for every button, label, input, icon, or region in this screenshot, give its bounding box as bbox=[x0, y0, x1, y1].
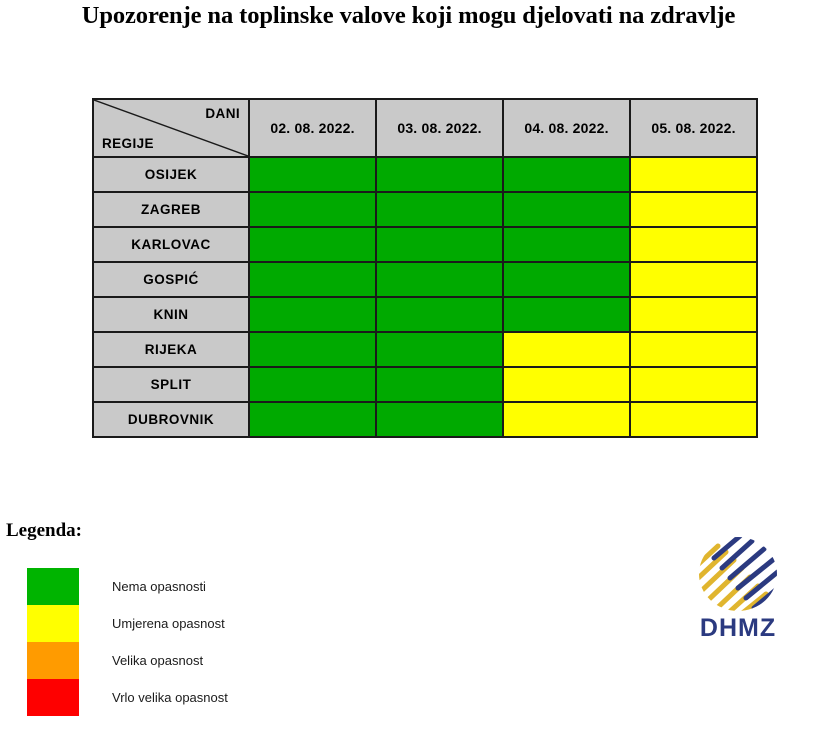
region-label: RIJEKA bbox=[93, 332, 249, 367]
table-header-row: DANI REGIJE 02. 08. 2022. 03. 08. 2022. … bbox=[93, 99, 757, 157]
warning-cell bbox=[503, 227, 630, 262]
warning-cell bbox=[503, 262, 630, 297]
date-header-2: 04. 08. 2022. bbox=[503, 99, 630, 157]
page-title: Upozorenje na toplinske valove koji mogu… bbox=[0, 2, 817, 30]
warning-cell bbox=[376, 262, 503, 297]
region-label: OSIJEK bbox=[93, 157, 249, 192]
warning-cell bbox=[376, 192, 503, 227]
warning-cell bbox=[249, 297, 376, 332]
heat-warning-table: DANI REGIJE 02. 08. 2022. 03. 08. 2022. … bbox=[92, 98, 758, 438]
legend-swatch bbox=[27, 642, 79, 679]
warning-cell bbox=[503, 402, 630, 437]
legend: Nema opasnosti Umjerena opasnost Velika … bbox=[27, 568, 228, 716]
warning-cell bbox=[376, 297, 503, 332]
warning-cell bbox=[249, 402, 376, 437]
table-row: DUBROVNIK bbox=[93, 402, 757, 437]
legend-title: Legenda: bbox=[6, 520, 82, 542]
table-row: KNIN bbox=[93, 297, 757, 332]
legend-item: Vrlo velika opasnost bbox=[27, 679, 228, 716]
warning-cell bbox=[249, 192, 376, 227]
region-label: DUBROVNIK bbox=[93, 402, 249, 437]
warning-cell bbox=[249, 367, 376, 402]
warning-cell bbox=[630, 297, 757, 332]
warning-cell bbox=[503, 297, 630, 332]
table-row: OSIJEK bbox=[93, 157, 757, 192]
legend-label: Velika opasnost bbox=[112, 653, 203, 668]
legend-label: Nema opasnosti bbox=[112, 579, 206, 594]
dhmz-emblem-icon bbox=[688, 536, 788, 616]
table-row: KARLOVAC bbox=[93, 227, 757, 262]
warning-cell bbox=[376, 332, 503, 367]
dhmz-wordmark: DHMZ bbox=[676, 614, 800, 643]
table-row: ZAGREB bbox=[93, 192, 757, 227]
region-label: KARLOVAC bbox=[93, 227, 249, 262]
date-header-0: 02. 08. 2022. bbox=[249, 99, 376, 157]
warning-cell bbox=[630, 157, 757, 192]
warning-cell bbox=[376, 157, 503, 192]
region-label: KNIN bbox=[93, 297, 249, 332]
warning-cell bbox=[630, 367, 757, 402]
warning-cell bbox=[249, 227, 376, 262]
warning-cell bbox=[249, 332, 376, 367]
legend-item: Velika opasnost bbox=[27, 642, 228, 679]
legend-swatch bbox=[27, 605, 79, 642]
warning-cell bbox=[249, 157, 376, 192]
warning-cell bbox=[376, 402, 503, 437]
columns-axis-label: DANI bbox=[205, 106, 240, 121]
date-header-3: 05. 08. 2022. bbox=[630, 99, 757, 157]
warning-cell bbox=[503, 157, 630, 192]
rows-axis-label: REGIJE bbox=[102, 136, 154, 151]
warning-cell bbox=[249, 262, 376, 297]
legend-item: Nema opasnosti bbox=[27, 568, 228, 605]
warning-cell bbox=[630, 262, 757, 297]
warning-cell bbox=[503, 367, 630, 402]
region-label: ZAGREB bbox=[93, 192, 249, 227]
legend-label: Vrlo velika opasnost bbox=[112, 690, 228, 705]
region-label: SPLIT bbox=[93, 367, 249, 402]
legend-item: Umjerena opasnost bbox=[27, 605, 228, 642]
warning-cell bbox=[503, 192, 630, 227]
warning-cell bbox=[630, 227, 757, 262]
dhmz-logo: DHMZ bbox=[676, 536, 800, 648]
warning-cell bbox=[376, 227, 503, 262]
legend-swatch bbox=[27, 568, 79, 605]
legend-label: Umjerena opasnost bbox=[112, 616, 225, 631]
warning-cell bbox=[503, 332, 630, 367]
date-header-1: 03. 08. 2022. bbox=[376, 99, 503, 157]
warning-cell bbox=[630, 402, 757, 437]
region-label: GOSPIĆ bbox=[93, 262, 249, 297]
table-row: RIJEKA bbox=[93, 332, 757, 367]
table-body: OSIJEK ZAGREB KARLOVAC GOSPIĆ bbox=[93, 157, 757, 437]
warning-cell bbox=[376, 367, 503, 402]
warning-cell bbox=[630, 332, 757, 367]
corner-header-cell: DANI REGIJE bbox=[93, 99, 249, 157]
warning-cell bbox=[630, 192, 757, 227]
table-row: GOSPIĆ bbox=[93, 262, 757, 297]
table-row: SPLIT bbox=[93, 367, 757, 402]
legend-swatch bbox=[27, 679, 79, 716]
